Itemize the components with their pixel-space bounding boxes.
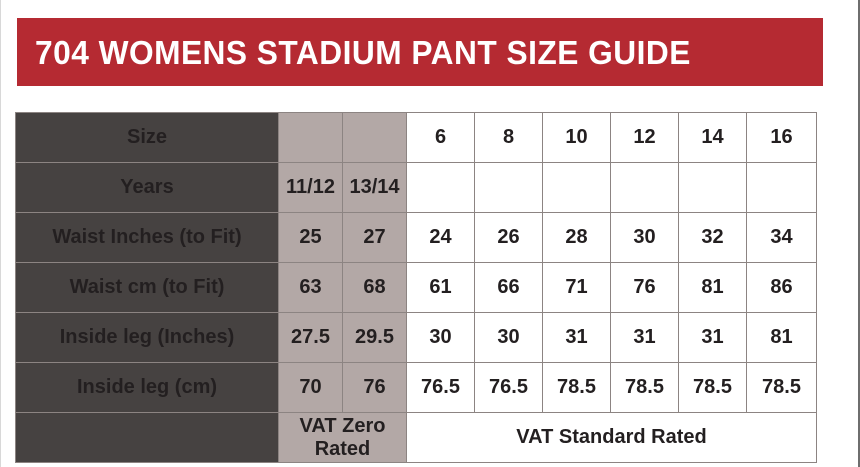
cell-size-child-2 xyxy=(343,113,407,163)
vat-zero-rated-cell: VAT Zero Rated xyxy=(279,413,407,463)
size-guide-page: 704 WOMENS STADIUM PANT SIZE GUIDE Size … xyxy=(0,0,860,467)
cell-inside-leg-inches-womens-6: 81 xyxy=(747,313,817,363)
vat-standard-rated-cell: VAT Standard Rated xyxy=(407,413,817,463)
cell-size-womens-6: 16 xyxy=(747,113,817,163)
row-label-waist-inches: Waist Inches (to Fit) xyxy=(16,213,279,263)
cell-waist-cm-womens-4: 76 xyxy=(611,263,679,313)
cell-waist-inches-womens-4: 30 xyxy=(611,213,679,263)
cell-inside-leg-cm-child-1: 70 xyxy=(279,363,343,413)
table-row-inside-leg-cm: Inside leg (cm) 70 76 76.5 76.5 78.5 78.… xyxy=(16,363,817,413)
row-label-inside-leg-cm: Inside leg (cm) xyxy=(16,363,279,413)
cell-size-child-1 xyxy=(279,113,343,163)
cell-inside-leg-inches-womens-3: 31 xyxy=(543,313,611,363)
cell-size-womens-3: 10 xyxy=(543,113,611,163)
cell-size-womens-2: 8 xyxy=(475,113,543,163)
table-row-years: Years 11/12 13/14 xyxy=(16,163,817,213)
cell-inside-leg-inches-womens-2: 30 xyxy=(475,313,543,363)
cell-inside-leg-inches-womens-1: 30 xyxy=(407,313,475,363)
cell-waist-cm-womens-5: 81 xyxy=(679,263,747,313)
cell-inside-leg-cm-womens-5: 78.5 xyxy=(679,363,747,413)
row-label-years: Years xyxy=(16,163,279,213)
row-label-inside-leg-inches: Inside leg (Inches) xyxy=(16,313,279,363)
row-label-size: Size xyxy=(16,113,279,163)
cell-waist-cm-child-2: 68 xyxy=(343,263,407,313)
row-label-vat xyxy=(16,413,279,463)
cell-waist-inches-womens-5: 32 xyxy=(679,213,747,263)
cell-years-child-1: 11/12 xyxy=(279,163,343,213)
row-label-waist-cm: Waist cm (to Fit) xyxy=(16,263,279,313)
cell-waist-cm-child-1: 63 xyxy=(279,263,343,313)
cell-inside-leg-cm-womens-3: 78.5 xyxy=(543,363,611,413)
cell-inside-leg-inches-child-2: 29.5 xyxy=(343,313,407,363)
cell-inside-leg-cm-womens-4: 78.5 xyxy=(611,363,679,413)
cell-years-womens-3 xyxy=(543,163,611,213)
cell-years-child-2: 13/14 xyxy=(343,163,407,213)
table-row-waist-inches: Waist Inches (to Fit) 25 27 24 26 28 30 … xyxy=(16,213,817,263)
cell-inside-leg-cm-womens-1: 76.5 xyxy=(407,363,475,413)
cell-waist-inches-womens-2: 26 xyxy=(475,213,543,263)
cell-years-womens-2 xyxy=(475,163,543,213)
table-row-waist-cm: Waist cm (to Fit) 63 68 61 66 71 76 81 8… xyxy=(16,263,817,313)
size-guide-table: Size 6 8 10 12 14 16 Years 11/12 13/14 W… xyxy=(15,112,817,463)
cell-waist-inches-child-1: 25 xyxy=(279,213,343,263)
cell-inside-leg-cm-womens-2: 76.5 xyxy=(475,363,543,413)
cell-waist-cm-womens-2: 66 xyxy=(475,263,543,313)
cell-waist-inches-child-2: 27 xyxy=(343,213,407,263)
cell-waist-cm-womens-6: 86 xyxy=(747,263,817,313)
cell-inside-leg-inches-child-1: 27.5 xyxy=(279,313,343,363)
cell-inside-leg-inches-womens-4: 31 xyxy=(611,313,679,363)
cell-waist-inches-womens-1: 24 xyxy=(407,213,475,263)
cell-years-womens-5 xyxy=(679,163,747,213)
cell-waist-inches-womens-6: 34 xyxy=(747,213,817,263)
cell-inside-leg-cm-child-2: 76 xyxy=(343,363,407,413)
page-title: 704 WOMENS STADIUM PANT SIZE GUIDE xyxy=(35,36,691,69)
table-row-vat: VAT Zero Rated VAT Standard Rated xyxy=(16,413,817,463)
table-row-inside-leg-inches: Inside leg (Inches) 27.5 29.5 30 30 31 3… xyxy=(16,313,817,363)
cell-years-womens-4 xyxy=(611,163,679,213)
cell-inside-leg-inches-womens-5: 31 xyxy=(679,313,747,363)
cell-size-womens-1: 6 xyxy=(407,113,475,163)
cell-years-womens-1 xyxy=(407,163,475,213)
cell-size-womens-5: 14 xyxy=(679,113,747,163)
cell-size-womens-4: 12 xyxy=(611,113,679,163)
table-row-size: Size 6 8 10 12 14 16 xyxy=(16,113,817,163)
title-banner: 704 WOMENS STADIUM PANT SIZE GUIDE xyxy=(17,18,823,86)
cell-inside-leg-cm-womens-6: 78.5 xyxy=(747,363,817,413)
cell-waist-inches-womens-3: 28 xyxy=(543,213,611,263)
cell-waist-cm-womens-1: 61 xyxy=(407,263,475,313)
cell-years-womens-6 xyxy=(747,163,817,213)
cell-waist-cm-womens-3: 71 xyxy=(543,263,611,313)
